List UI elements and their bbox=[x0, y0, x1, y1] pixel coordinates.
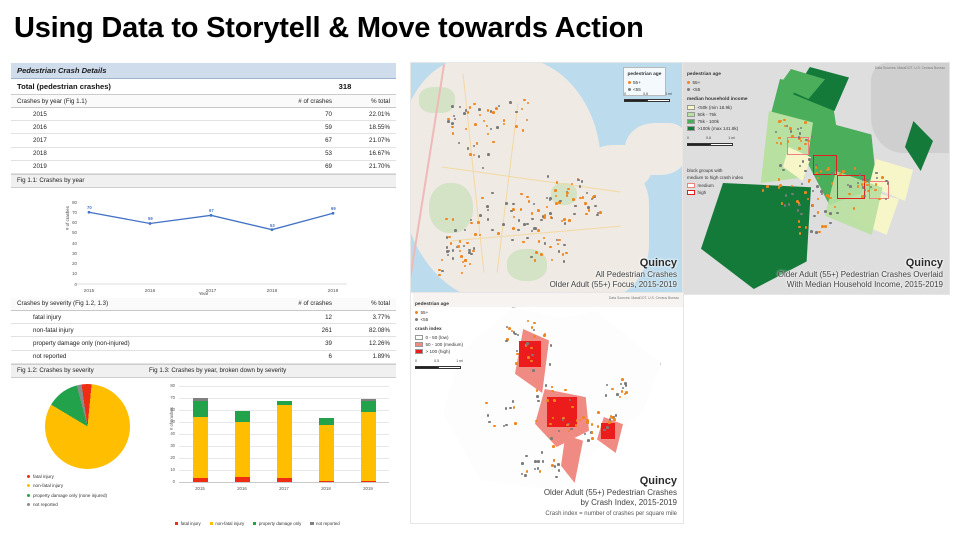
legend-title-income: median household income bbox=[687, 96, 748, 103]
legend-title: pedestrian age bbox=[628, 71, 662, 78]
map-b-title-block: Quincy Older Adult (55+) Pedestrian Cras… bbox=[778, 257, 943, 290]
crash-point-55-plus bbox=[621, 378, 624, 381]
crash-point-under-55 bbox=[531, 354, 534, 357]
crash-point-under-55 bbox=[824, 210, 827, 213]
legend-label: >100k (max 141.8k) bbox=[698, 125, 739, 132]
crash-point-55-plus bbox=[514, 422, 517, 425]
legend-label: 50 - 100 (medium) bbox=[426, 341, 464, 348]
line-chart-data-label: 53 bbox=[270, 223, 275, 228]
bar-segment bbox=[319, 418, 334, 425]
bar-chart-x-tick: 2015 bbox=[183, 486, 217, 491]
legend-label: <55 bbox=[421, 316, 429, 323]
crash-point-55-plus bbox=[804, 121, 807, 124]
bar-chart-x-tick: 2019 bbox=[351, 486, 385, 491]
crash-point-55-plus bbox=[533, 322, 536, 325]
swatch-icon bbox=[175, 522, 178, 525]
table-row: 2019 69 21.70% bbox=[11, 160, 396, 173]
bar-legend-item: fatal injury bbox=[175, 521, 201, 526]
scale-mid: 0.5 bbox=[434, 358, 439, 365]
crash-point-under-55 bbox=[779, 164, 782, 167]
col-pct: % total bbox=[338, 95, 396, 108]
crash-point-55-plus bbox=[798, 226, 801, 229]
map-a-title-block: Quincy All Pedestrian Crashes Older Adul… bbox=[550, 257, 677, 290]
pie-legend-label: fatal injury bbox=[33, 474, 54, 479]
crash-point-55-plus bbox=[599, 211, 602, 214]
legend-label: <50k (min 18.9k) bbox=[698, 104, 732, 111]
legend-label: 0 - 50 (low) bbox=[426, 334, 449, 341]
dot-icon bbox=[415, 318, 418, 321]
fig-1-2-pie-chart: fatal injurynon-fatal injuryproperty dam… bbox=[15, 382, 155, 528]
crash-point-55-plus bbox=[853, 207, 856, 210]
legend-item-under-55: <55 bbox=[687, 86, 748, 93]
crash-point-under-55 bbox=[849, 185, 852, 188]
crash-point-55-plus bbox=[568, 219, 571, 222]
scale-mid: 0.6 bbox=[643, 91, 648, 98]
map-b-crash-index-legend: block groups with medium to high crash i… bbox=[687, 167, 743, 196]
crash-point-55-plus bbox=[591, 437, 594, 440]
crash-point-55-plus bbox=[762, 189, 765, 192]
bar-chart-y-tick: 50 bbox=[163, 419, 175, 424]
bar-chart-legend: fatal injurynon-fatal injuryproperty dam… bbox=[175, 521, 395, 526]
crash-point-under-55 bbox=[463, 112, 466, 115]
cell-severity: property damage only (non-injured) bbox=[11, 337, 260, 350]
table-row: fatal injury 12 3.77% bbox=[11, 310, 396, 323]
bar-chart-gridline bbox=[179, 386, 389, 387]
crash-index-legend-line-2: medium to high crash index bbox=[687, 175, 743, 180]
scale-numbers: 0 0.6 1 mi bbox=[624, 91, 672, 98]
table-row: 2018 53 16.67% bbox=[11, 147, 396, 160]
crash-point-55-plus bbox=[815, 166, 818, 169]
crash-point-under-55 bbox=[478, 108, 481, 111]
bar-legend-item: non-fatal injury bbox=[210, 521, 245, 526]
swatch-icon bbox=[415, 349, 423, 355]
bar-legend-label: non-fatal injury bbox=[215, 521, 244, 526]
line-chart-plot bbox=[11, 188, 396, 298]
crash-point-under-55 bbox=[831, 172, 834, 175]
crash-point-55-plus bbox=[438, 274, 441, 277]
crash-point-55-plus bbox=[474, 123, 477, 126]
crash-point-55-plus bbox=[469, 153, 472, 156]
total-value: 318 bbox=[300, 82, 390, 91]
crash-point-55-plus bbox=[824, 225, 827, 228]
bar-legend-label: fatal injury bbox=[181, 521, 201, 526]
swatch-icon bbox=[415, 335, 423, 341]
cell-count: 67 bbox=[260, 134, 338, 147]
scale-min: 0 bbox=[624, 91, 626, 98]
map-title-line-2: by Crash Index, 2015-2019 bbox=[544, 498, 677, 508]
swatch-icon bbox=[687, 105, 695, 111]
cell-severity: non-fatal injury bbox=[11, 324, 260, 337]
crash-point-55-plus bbox=[464, 259, 467, 262]
map-title-line-1: Older Adult (55+) Pedestrian Crashes bbox=[544, 488, 677, 498]
crash-point-under-55 bbox=[540, 219, 543, 222]
legend-title-crash-index: crash index bbox=[415, 326, 463, 333]
line-chart-data-label: 59 bbox=[148, 216, 153, 221]
pie-legend-label: not reported bbox=[33, 502, 58, 507]
scale-max: 1 mi bbox=[456, 358, 463, 365]
crash-point-55-plus bbox=[512, 227, 515, 230]
cell-pct: 12.26% bbox=[338, 337, 396, 350]
table-header-row: Crashes by severity (Fig 1.2, 1.3) # of … bbox=[11, 298, 396, 311]
legend-item-high: high bbox=[687, 189, 743, 196]
crash-point-55-plus bbox=[530, 347, 533, 350]
crash-point-under-55 bbox=[606, 426, 609, 429]
legend-label: <55 bbox=[693, 86, 701, 93]
bar-segment bbox=[361, 401, 376, 412]
crash-point-under-55 bbox=[533, 227, 536, 230]
table-row: property damage only (non-injured) 39 12… bbox=[11, 337, 396, 350]
crash-point-55-plus bbox=[818, 231, 821, 234]
legend-label: high bbox=[698, 189, 707, 196]
dot-icon bbox=[628, 81, 631, 84]
crash-point-under-55 bbox=[559, 200, 562, 203]
map-title-line-2: With Median Household Income, 2015-2019 bbox=[778, 280, 943, 290]
outline-swatch-icon bbox=[687, 183, 695, 189]
crash-point-under-55 bbox=[605, 394, 608, 397]
pie-legend-item: non-fatal injury bbox=[27, 481, 107, 491]
bar-chart-gridline bbox=[179, 482, 389, 483]
swatch-icon bbox=[27, 484, 30, 487]
bar-legend-label: property damage only bbox=[259, 521, 301, 526]
line-chart-data-label: 69 bbox=[331, 206, 336, 211]
crash-point-55-plus bbox=[551, 390, 554, 393]
crash-point-55-plus bbox=[787, 140, 790, 143]
map-city-name: Quincy bbox=[550, 257, 677, 270]
swatch-icon bbox=[687, 112, 695, 118]
crash-point-55-plus bbox=[474, 233, 477, 236]
cell-pct: 3.77% bbox=[338, 310, 396, 323]
cell-count: 6 bbox=[260, 350, 338, 363]
crash-point-55-plus bbox=[866, 184, 869, 187]
pie-legend-item: fatal injury bbox=[27, 472, 107, 482]
map-all-pedestrian-crashes[interactable]: pedestrian age 55+ <55 0 0.6 1 mi Quincy… bbox=[410, 62, 684, 295]
crash-point-under-55 bbox=[596, 214, 599, 217]
fig-1-1-line-chart: # of crashes Year 0102030405060708020152… bbox=[11, 188, 396, 298]
crash-point-55-plus bbox=[473, 154, 476, 157]
crash-point-55-plus bbox=[473, 103, 476, 106]
crash-point-under-55 bbox=[526, 223, 529, 226]
scale-numbers: 0 0.6 1 mi bbox=[687, 135, 735, 142]
crash-point-55-plus bbox=[586, 421, 589, 424]
crash-point-under-55 bbox=[512, 203, 515, 206]
crash-point-under-55 bbox=[496, 126, 499, 129]
crash-point-under-55 bbox=[525, 455, 528, 458]
map-title-line-2: Older Adult (55+) Focus, 2015-2019 bbox=[550, 280, 677, 290]
cell-pct: 1.89% bbox=[338, 350, 396, 363]
crash-point-55-plus bbox=[608, 421, 611, 424]
bar-legend-label: not reported bbox=[316, 521, 340, 526]
crash-point-55-plus bbox=[540, 253, 543, 256]
swatch-icon bbox=[687, 126, 695, 132]
crash-point-55-plus bbox=[445, 218, 448, 221]
cell-count: 59 bbox=[260, 121, 338, 134]
crash-point-55-plus bbox=[487, 109, 490, 112]
map-c-data-source: Data Sources: MassDOT, U.S. Census Burea… bbox=[609, 296, 679, 300]
crash-point-55-plus bbox=[534, 259, 537, 262]
crash-point-under-55 bbox=[509, 101, 512, 104]
crash-point-under-55 bbox=[526, 343, 529, 346]
crash-point-under-55 bbox=[523, 223, 526, 226]
scalebar-icon bbox=[624, 99, 670, 102]
bar-chart-y-tick: 0 bbox=[163, 479, 175, 484]
legend-item-income-50-75: 50k - 75k bbox=[687, 111, 748, 118]
crash-point-under-55 bbox=[505, 202, 508, 205]
crash-point-under-55 bbox=[836, 212, 839, 215]
crash-point-under-55 bbox=[808, 158, 811, 161]
line-chart-data-label: 70 bbox=[87, 205, 92, 210]
dot-icon bbox=[687, 81, 690, 84]
crash-point-55-plus bbox=[562, 417, 565, 420]
crash-index-medium-outline bbox=[869, 181, 889, 199]
bar-segment bbox=[319, 425, 334, 480]
scale-min: 0 bbox=[687, 135, 689, 142]
crash-point-under-55 bbox=[479, 214, 482, 217]
scalebar-icon bbox=[687, 143, 733, 146]
crash-point-under-55 bbox=[547, 175, 550, 178]
scalebar-icon bbox=[415, 366, 461, 369]
crash-point-under-55 bbox=[473, 247, 476, 250]
bar-segment bbox=[277, 478, 292, 482]
crash-point-55-plus bbox=[492, 111, 495, 114]
crash-point-55-plus bbox=[778, 186, 781, 189]
crash-point-55-plus bbox=[820, 170, 823, 173]
crash-point-under-55 bbox=[554, 465, 557, 468]
crash-point-55-plus bbox=[477, 221, 480, 224]
crash-point-under-55 bbox=[550, 437, 553, 440]
crash-point-55-plus bbox=[567, 188, 570, 191]
crash-point-under-55 bbox=[502, 223, 505, 226]
crash-point-55-plus bbox=[460, 255, 463, 258]
crash-point-under-55 bbox=[557, 463, 560, 466]
crash-point-under-55 bbox=[549, 212, 552, 215]
map-crash-index[interactable]: Data Sources: MassDOT, U.S. Census Burea… bbox=[410, 292, 684, 524]
crash-index-high-area bbox=[601, 423, 615, 439]
legend-item-55-plus: 55+ bbox=[628, 79, 662, 86]
crash-point-55-plus bbox=[613, 419, 616, 422]
legend-item-medium: medium bbox=[687, 182, 743, 189]
crash-point-under-55 bbox=[797, 209, 800, 212]
crash-point-55-plus bbox=[798, 147, 801, 150]
crash-point-under-55 bbox=[810, 230, 813, 233]
cell-count: 69 bbox=[260, 160, 338, 173]
crash-point-under-55 bbox=[487, 218, 490, 221]
pie-legend-item: property damage only (none injured) bbox=[27, 491, 107, 501]
crash-point-55-plus bbox=[497, 232, 500, 235]
legend-item-55-plus: 55+ bbox=[687, 79, 748, 86]
crash-point-55-plus bbox=[495, 107, 498, 110]
legend-label: 55+ bbox=[633, 79, 641, 86]
bar-column bbox=[319, 418, 334, 482]
map-city-name: Quincy bbox=[544, 475, 677, 488]
crash-point-55-plus bbox=[585, 213, 588, 216]
pie-legend-item: not reported bbox=[27, 500, 107, 510]
crash-point-under-55 bbox=[453, 115, 456, 118]
crash-point-under-55 bbox=[447, 120, 450, 123]
map-park-layer bbox=[429, 183, 473, 233]
legend-item-income-75-100: 75k - 100k bbox=[687, 118, 748, 125]
map-c-legend: pedestrian age 55+ <55 crash index 0 - 5… bbox=[415, 301, 463, 369]
table-header-row: Crashes by year (Fig 1.1) # of crashes %… bbox=[11, 95, 396, 108]
crash-point-under-55 bbox=[515, 111, 518, 114]
crash-point-under-55 bbox=[536, 395, 539, 398]
crash-point-under-55 bbox=[486, 205, 489, 208]
outline-swatch-icon bbox=[687, 190, 695, 196]
crash-point-55-plus bbox=[582, 196, 585, 199]
scale-mid: 0.6 bbox=[706, 135, 711, 142]
table-row: not reported 6 1.89% bbox=[11, 350, 396, 363]
bar-chart-y-tick: 70 bbox=[163, 395, 175, 400]
scale-max: 1 mi bbox=[665, 91, 672, 98]
crash-point-55-plus bbox=[533, 335, 536, 338]
crash-point-55-plus bbox=[582, 416, 585, 419]
fig-1-3-caption: Fig 1.3: Crashes by year, broken down by… bbox=[149, 367, 286, 374]
cell-count: 261 bbox=[260, 324, 338, 337]
crash-point-55-plus bbox=[766, 185, 769, 188]
fig-1-2-1-3-captions: Fig 1.2: Crashes by severity Fig 1.3: Cr… bbox=[11, 364, 396, 378]
map-title-line-1: All Pedestrian Crashes bbox=[550, 270, 677, 280]
map-note: Crash index = number of crashes per squa… bbox=[544, 509, 677, 519]
bar-chart-x-tick: 2018 bbox=[309, 486, 343, 491]
bar-segment bbox=[235, 422, 250, 477]
crash-point-55-plus bbox=[515, 362, 518, 365]
bar-column bbox=[235, 411, 250, 482]
bar-segment bbox=[277, 405, 292, 478]
crashes-by-severity-table: Crashes by severity (Fig 1.2, 1.3) # of … bbox=[11, 298, 396, 364]
crash-point-55-plus bbox=[543, 237, 546, 240]
map-city-name: Quincy bbox=[778, 257, 943, 270]
table-row: 2015 70 22.01% bbox=[11, 108, 396, 121]
crash-point-55-plus bbox=[597, 411, 600, 414]
crash-point-55-plus bbox=[546, 399, 549, 402]
dot-icon bbox=[415, 311, 418, 314]
swatch-icon bbox=[27, 475, 30, 478]
scale-numbers: 0 0.5 1 mi bbox=[415, 358, 463, 365]
crash-point-under-55 bbox=[487, 153, 490, 156]
legend-item-income-high: >100k (max 141.8k) bbox=[687, 125, 748, 132]
crash-point-under-55 bbox=[800, 213, 803, 216]
cell-pct: 16.67% bbox=[338, 147, 396, 160]
crash-point-55-plus bbox=[791, 135, 794, 138]
line-chart-data-label: 67 bbox=[209, 208, 214, 213]
crash-point-55-plus bbox=[831, 182, 834, 185]
table-row: 2016 59 18.55% bbox=[11, 121, 396, 134]
legend-item-index-low: 0 - 50 (low) bbox=[415, 334, 463, 341]
crash-point-55-plus bbox=[451, 126, 454, 129]
crash-point-under-55 bbox=[788, 203, 791, 206]
crash-point-under-55 bbox=[491, 229, 494, 232]
map-income-overlay[interactable]: Data Sources: MassDOT, U.S. Census Burea… bbox=[682, 62, 950, 295]
bar-column bbox=[193, 398, 208, 482]
bar-chart-y-tick: 20 bbox=[163, 455, 175, 460]
bar-chart-x-tick: 2016 bbox=[225, 486, 259, 491]
crash-point-under-55 bbox=[451, 122, 454, 125]
crash-point-under-55 bbox=[532, 369, 535, 372]
swatch-icon bbox=[27, 503, 30, 506]
pie-legend: fatal injurynon-fatal injuryproperty dam… bbox=[27, 472, 107, 510]
bar-segment bbox=[361, 412, 376, 480]
crash-point-under-55 bbox=[802, 160, 805, 163]
col-year-label: Crashes by year (Fig 1.1) bbox=[11, 95, 260, 108]
crash-point-55-plus bbox=[827, 195, 830, 198]
table-row: non-fatal injury 261 82.08% bbox=[11, 324, 396, 337]
swatch-icon bbox=[210, 522, 213, 525]
crash-point-55-plus bbox=[535, 251, 538, 254]
crash-point-under-55 bbox=[531, 218, 534, 221]
crash-point-under-55 bbox=[616, 393, 619, 396]
scale-min: 0 bbox=[415, 358, 417, 365]
legend-item-under-55: <55 bbox=[415, 316, 463, 323]
legend-label: 50k - 75k bbox=[698, 111, 717, 118]
crash-point-55-plus bbox=[584, 202, 587, 205]
slide-canvas: Using Data to Storytell & Move towards A… bbox=[0, 0, 960, 540]
crash-point-55-plus bbox=[611, 388, 614, 391]
pedestrian-crash-report-panel: Pedestrian Crash Details Total (pedestri… bbox=[11, 63, 396, 511]
crash-index-legend-line-1: block groups with bbox=[687, 168, 723, 173]
col-count: # of crashes bbox=[260, 298, 338, 311]
bar-chart-y-tick: 10 bbox=[163, 467, 175, 472]
legend-item-income-low: <50k (min 18.9k) bbox=[687, 104, 748, 111]
crash-point-under-55 bbox=[829, 222, 832, 225]
scale-max: 1 mi bbox=[728, 135, 735, 142]
cell-pct: 22.01% bbox=[338, 108, 396, 121]
crashes-by-year-table: Crashes by year (Fig 1.1) # of crashes %… bbox=[11, 95, 396, 174]
legend-item-55-plus: 55+ bbox=[415, 309, 463, 316]
cell-count: 12 bbox=[260, 310, 338, 323]
bar-chart-gridline bbox=[179, 398, 389, 399]
crash-point-55-plus bbox=[527, 356, 530, 359]
crash-point-55-plus bbox=[552, 445, 555, 448]
crash-point-55-plus bbox=[554, 189, 557, 192]
legend-title-age: pedestrian age bbox=[415, 301, 463, 308]
legend-label: 75k - 100k bbox=[698, 118, 719, 125]
bar-segment bbox=[193, 417, 208, 478]
bar-chart-y-tick: 40 bbox=[163, 431, 175, 436]
pie-side-label bbox=[151, 411, 156, 412]
crash-point-55-plus bbox=[575, 424, 578, 427]
col-count: # of crashes bbox=[260, 95, 338, 108]
map-b-data-source: Data Sources: MassDOT, U.S. Census Burea… bbox=[875, 66, 945, 70]
legend-title-age: pedestrian age bbox=[687, 71, 748, 78]
crash-point-under-55 bbox=[451, 105, 454, 108]
crash-point-under-55 bbox=[521, 462, 524, 465]
crash-point-55-plus bbox=[459, 240, 462, 243]
crash-point-under-55 bbox=[587, 206, 590, 209]
bar-column bbox=[277, 401, 292, 481]
pie-legend-label: non-fatal injury bbox=[33, 483, 63, 488]
crash-point-55-plus bbox=[804, 191, 807, 194]
page-title: Using Data to Storytell & Move towards A… bbox=[14, 12, 814, 52]
map-a-scalebar: 0 0.6 1 mi bbox=[624, 91, 672, 102]
crash-point-55-plus bbox=[610, 415, 613, 418]
map-c-title-block: Quincy Older Adult (55+) Pedestrian Cras… bbox=[544, 475, 677, 519]
bar-segment bbox=[193, 478, 208, 482]
crash-point-55-plus bbox=[526, 470, 529, 473]
crash-point-55-plus bbox=[558, 239, 561, 242]
crash-point-55-plus bbox=[452, 132, 455, 135]
crash-point-under-55 bbox=[816, 185, 819, 188]
crash-point-55-plus bbox=[515, 125, 518, 128]
cell-year: 2015 bbox=[11, 108, 260, 121]
crash-point-55-plus bbox=[621, 390, 624, 393]
bar-chart-y-tick: 60 bbox=[163, 407, 175, 412]
crash-index-high-area bbox=[519, 341, 541, 367]
cell-year: 2018 bbox=[11, 147, 260, 160]
cell-pct: 21.07% bbox=[338, 134, 396, 147]
crash-point-under-55 bbox=[487, 414, 490, 417]
pie-graphic bbox=[45, 384, 130, 469]
cell-pct: 82.08% bbox=[338, 324, 396, 337]
cell-year: 2016 bbox=[11, 121, 260, 134]
